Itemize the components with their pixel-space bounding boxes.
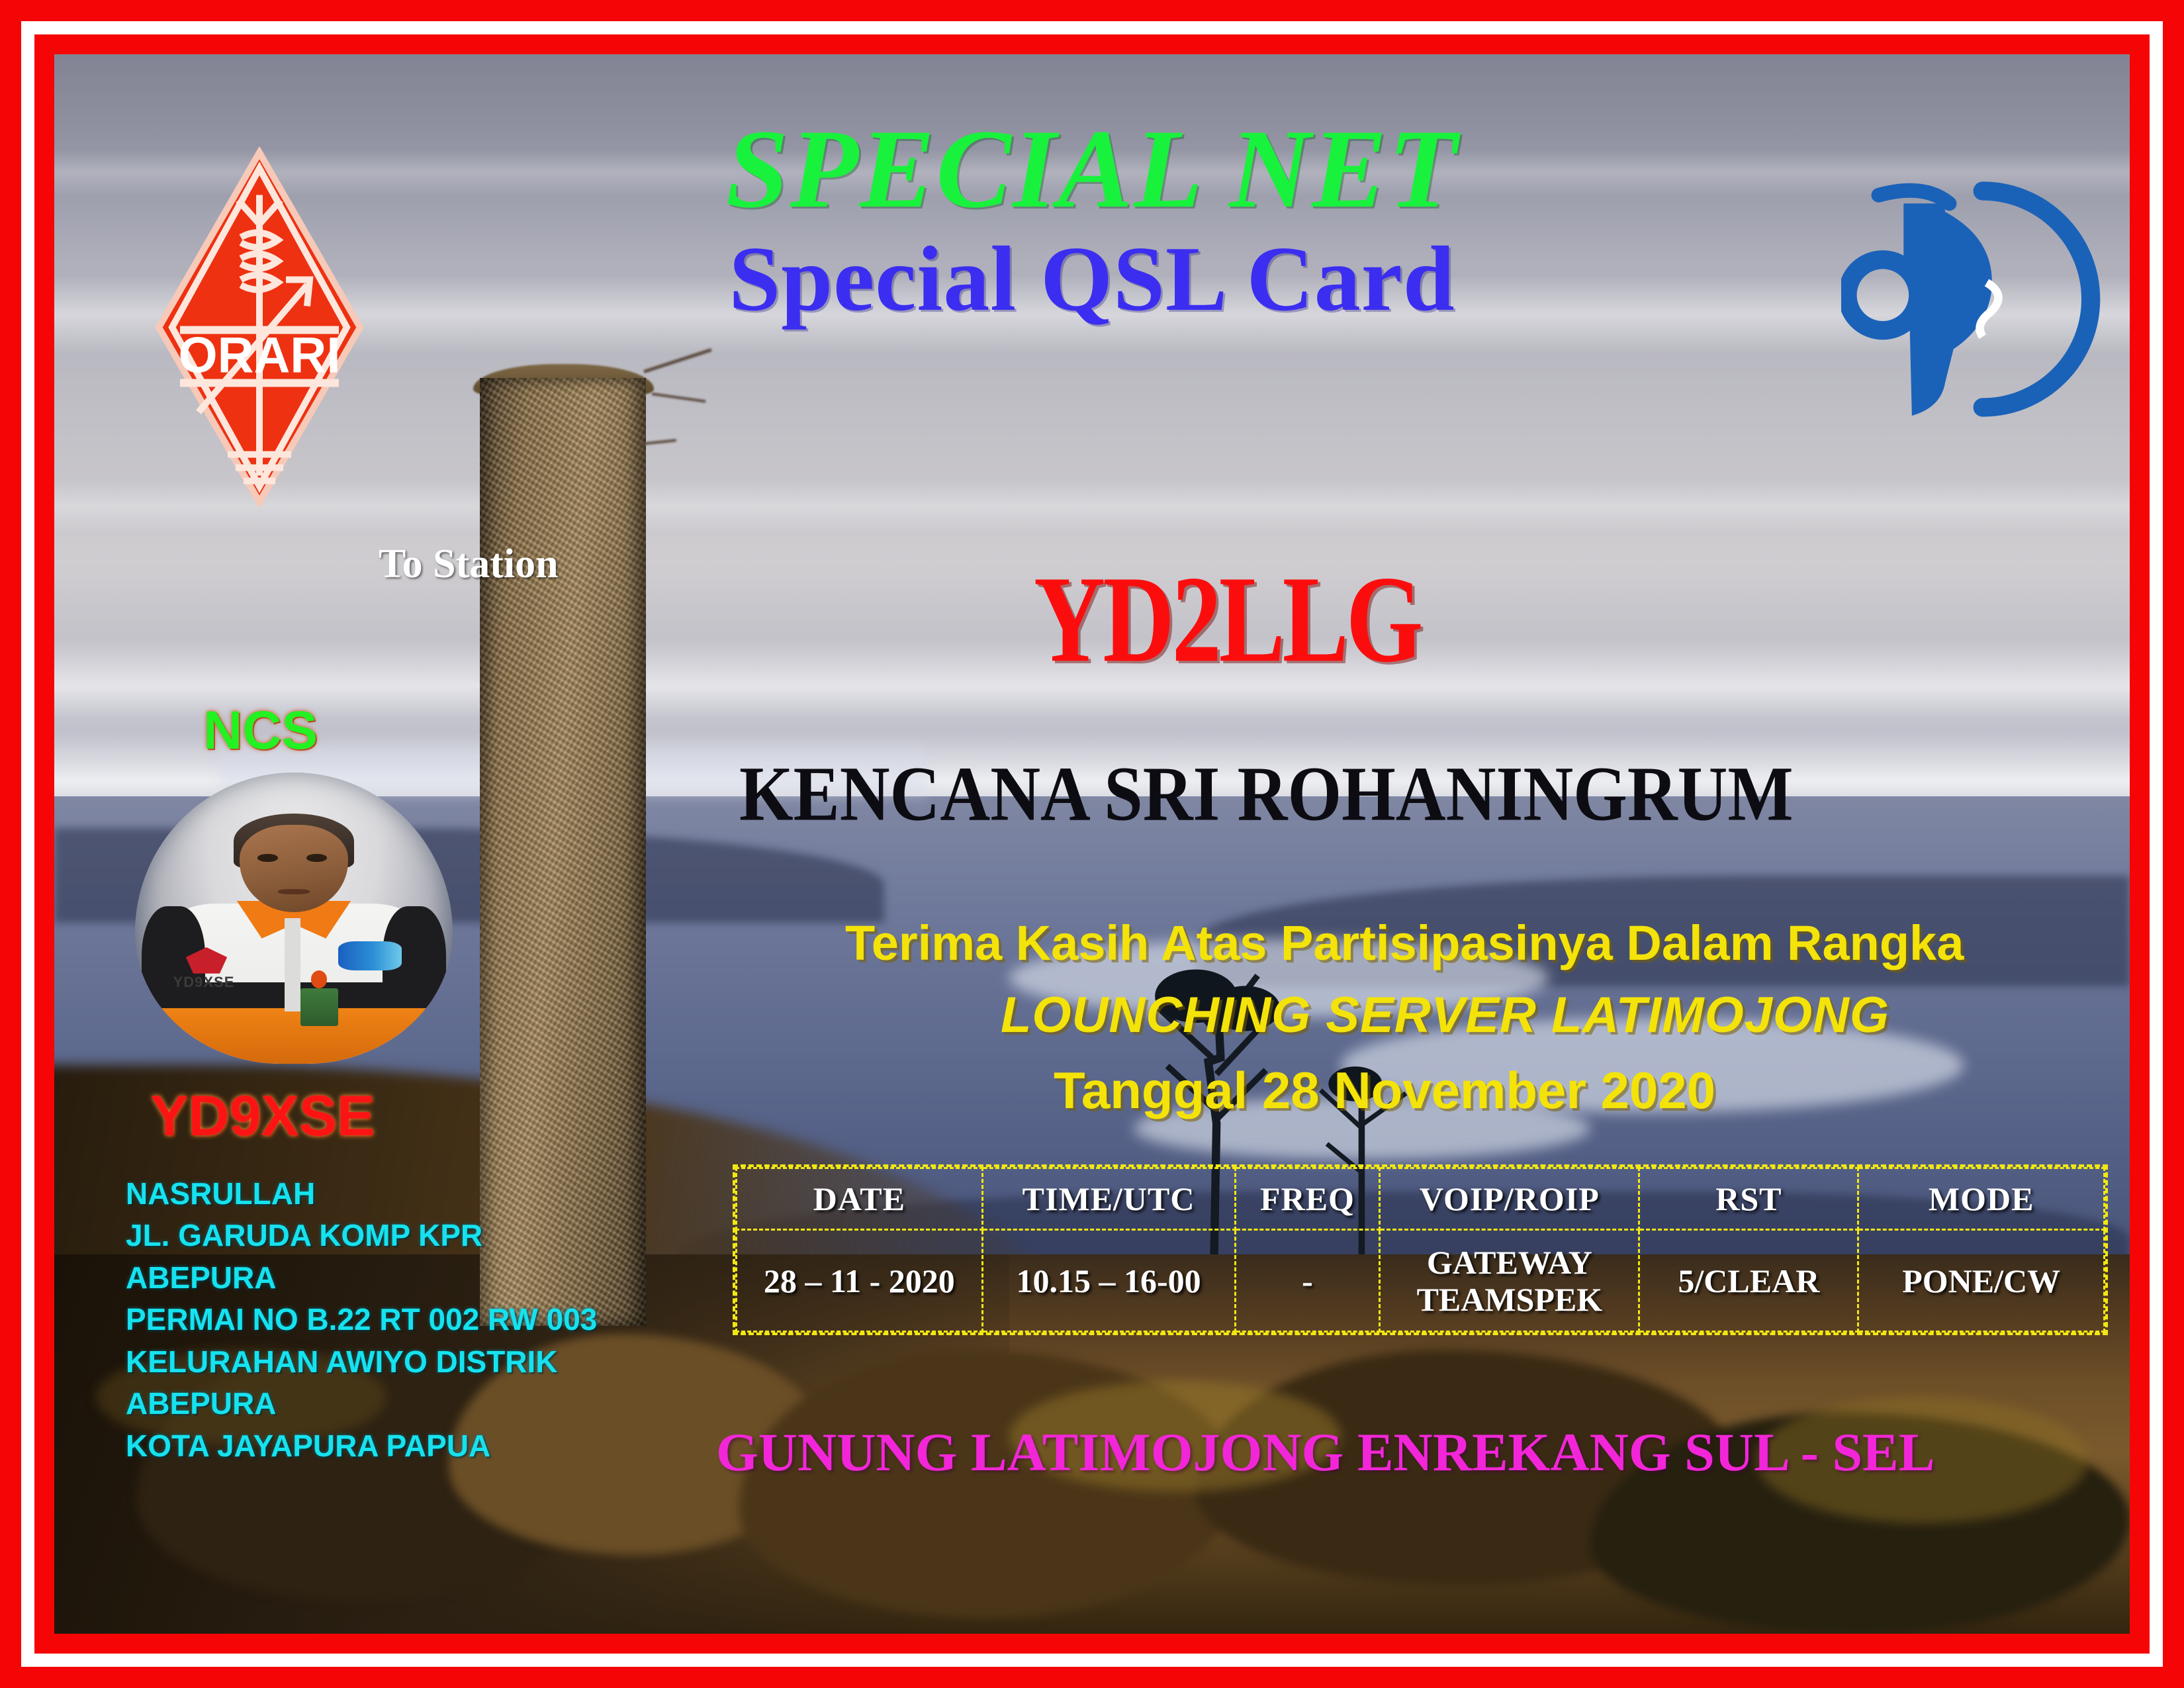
cell-time: 10.15 – 16-00 — [982, 1230, 1235, 1332]
header-voip: VOIP/ROIP — [1380, 1168, 1639, 1230]
operator-mouth — [278, 889, 310, 894]
operator-eye-right — [306, 854, 327, 861]
address-line: KOTA JAYAPURA PAPUA — [126, 1425, 682, 1467]
cell-freq: - — [1235, 1230, 1380, 1332]
operator-uniform-hem — [154, 1006, 433, 1064]
address-line: ABEPURA — [126, 1257, 682, 1299]
thanks-line-3: Tanggal 28 November 2020 — [1054, 1060, 1715, 1121]
operator-face — [240, 825, 347, 912]
address-line: NASRULLAH — [126, 1173, 682, 1215]
operator-id-clip — [311, 970, 327, 988]
cell-voip-line1: GATEWAY — [1381, 1244, 1637, 1281]
header-date: DATE — [737, 1168, 983, 1230]
address-line: PERMAI NO B.22 RT 002 RW 003 — [126, 1299, 682, 1340]
address-line: JL. GARUDA KOMP KPR — [126, 1215, 682, 1256]
event-location-text: GUNUNG LATIMOJONG ENREKANG SUL - SEL — [716, 1421, 1934, 1483]
header-rst: RST — [1639, 1168, 1858, 1230]
address-line: ABEPURA — [126, 1383, 682, 1425]
thanks-line-2: LOUNCHING SERVER LATIMOJONG — [1001, 986, 1889, 1044]
cell-rst: 5/CLEAR — [1639, 1230, 1858, 1332]
table-row: 28 – 11 - 2020 10.15 – 16-00 - GATEWAY T… — [737, 1230, 2105, 1332]
card-photo-background: ORARI SPECIAL NET Special QSL Card To St… — [54, 54, 2130, 1634]
cell-mode: PONE/CW — [1858, 1230, 2105, 1332]
cell-date: 28 – 11 - 2020 — [737, 1230, 983, 1332]
header-time: TIME/UTC — [982, 1168, 1235, 1230]
station-operator-name: KENCANA SRI ROHANINGRUM — [739, 755, 1794, 833]
cell-voip-line2: TEAMSPEK — [1381, 1281, 1637, 1318]
footer-motto: "AMATIR RADIO ADALAH PROGRESIVE" — [134, 1626, 1148, 1634]
orari-logo-text: ORARI — [179, 328, 341, 384]
operator-shirt-callsign: YD9XSE — [173, 974, 235, 991]
address-line: KELURAHAN AWIYO DISTRIK — [126, 1341, 682, 1383]
title-special-qsl-card: Special QSL Card — [54, 233, 2130, 326]
operator-eye-left — [257, 854, 278, 861]
operator-photo-oval: YD9XSE — [135, 773, 453, 1064]
table-header-row: DATE TIME/UTC FREQ VOIP/ROIP RST MODE — [737, 1168, 2105, 1230]
thanks-line-1: Terima Kasih Atas Partisipasinya Dalam R… — [845, 915, 1964, 971]
footer-web-address: Address : amatir.latimojong.com — [1332, 1624, 2073, 1634]
operator-id-card — [300, 988, 339, 1026]
station-callsign: YD2LLG — [1034, 557, 1420, 682]
operator-photo: YD9XSE — [135, 773, 453, 1064]
qsl-card: ORARI SPECIAL NET Special QSL Card To St… — [0, 0, 2184, 1688]
cell-voip: GATEWAY TEAMSPEK — [1380, 1230, 1639, 1332]
to-station-label: To Station — [379, 541, 559, 588]
header-freq: FREQ — [1235, 1168, 1380, 1230]
operator-placket — [285, 918, 300, 1011]
operator-chest-logo — [338, 941, 402, 970]
cloud-streak — [54, 481, 2130, 531]
postal-address-block: NASRULLAH JL. GARUDA KOMP KPR ABEPURA PE… — [126, 1173, 682, 1467]
header-mode: MODE — [1858, 1168, 2105, 1230]
ncs-callsign: YD9XSE — [150, 1084, 375, 1149]
qso-log-table: DATE TIME/UTC FREQ VOIP/ROIP RST MODE 28… — [733, 1164, 2108, 1335]
title-special-net: SPECIAL NET — [54, 113, 2130, 225]
ncs-label: NCS — [203, 700, 318, 762]
